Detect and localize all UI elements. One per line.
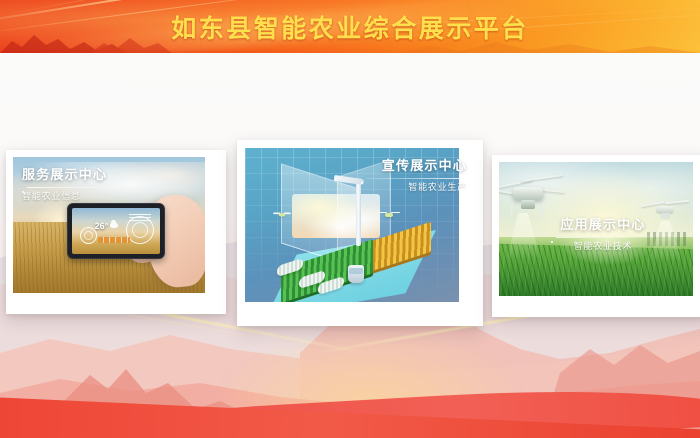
title-divider — [366, 178, 467, 179]
ar-data-strip — [98, 237, 130, 243]
drone-icon — [378, 210, 400, 219]
lamp-base-unit — [348, 265, 364, 283]
card-service-center[interactable]: 26° 服务展示中心 智能农业信息 — [6, 150, 226, 314]
title-divider — [27, 187, 118, 188]
drone-icon — [273, 210, 291, 217]
card-promotion-title: 宣传展示中心 — [361, 158, 467, 174]
page-root: 如东县智能农业综合展示平台 — [0, 0, 700, 438]
card-application-title: 应用展示中心 — [492, 217, 700, 233]
card-service-title: 服务展示中心 — [22, 167, 118, 183]
card-service-text: 服务展示中心 智能农业信息 — [22, 167, 118, 201]
smartphone: 26° — [67, 203, 165, 259]
card-promotion-text: 宣传展示中心 智能农业生产 — [361, 158, 467, 192]
page-title: 如东县智能农业综合展示平台 — [0, 0, 700, 53]
card-promotion-center[interactable]: 宣传展示中心 智能农业生产 — [237, 140, 483, 326]
cloud-icon — [110, 223, 118, 228]
ar-dial-icon — [80, 227, 97, 244]
card-application-subtitle: 智能农业技术 — [492, 241, 700, 252]
phone-screen: 26° — [72, 208, 160, 254]
drone-large-icon — [499, 173, 573, 217]
temperature-readout: 26° — [95, 221, 109, 231]
card-service-subtitle: 智能农业信息 — [22, 191, 118, 202]
card-promotion-subtitle: 智能农业生产 — [361, 182, 467, 193]
title-divider — [556, 237, 655, 238]
header-banner: 如东县智能农业综合展示平台 — [0, 0, 700, 53]
card-application-center[interactable]: 应用展示中心 智能农业技术 — [492, 155, 700, 317]
card-application-text: 应用展示中心 智能农业技术 — [492, 217, 700, 251]
